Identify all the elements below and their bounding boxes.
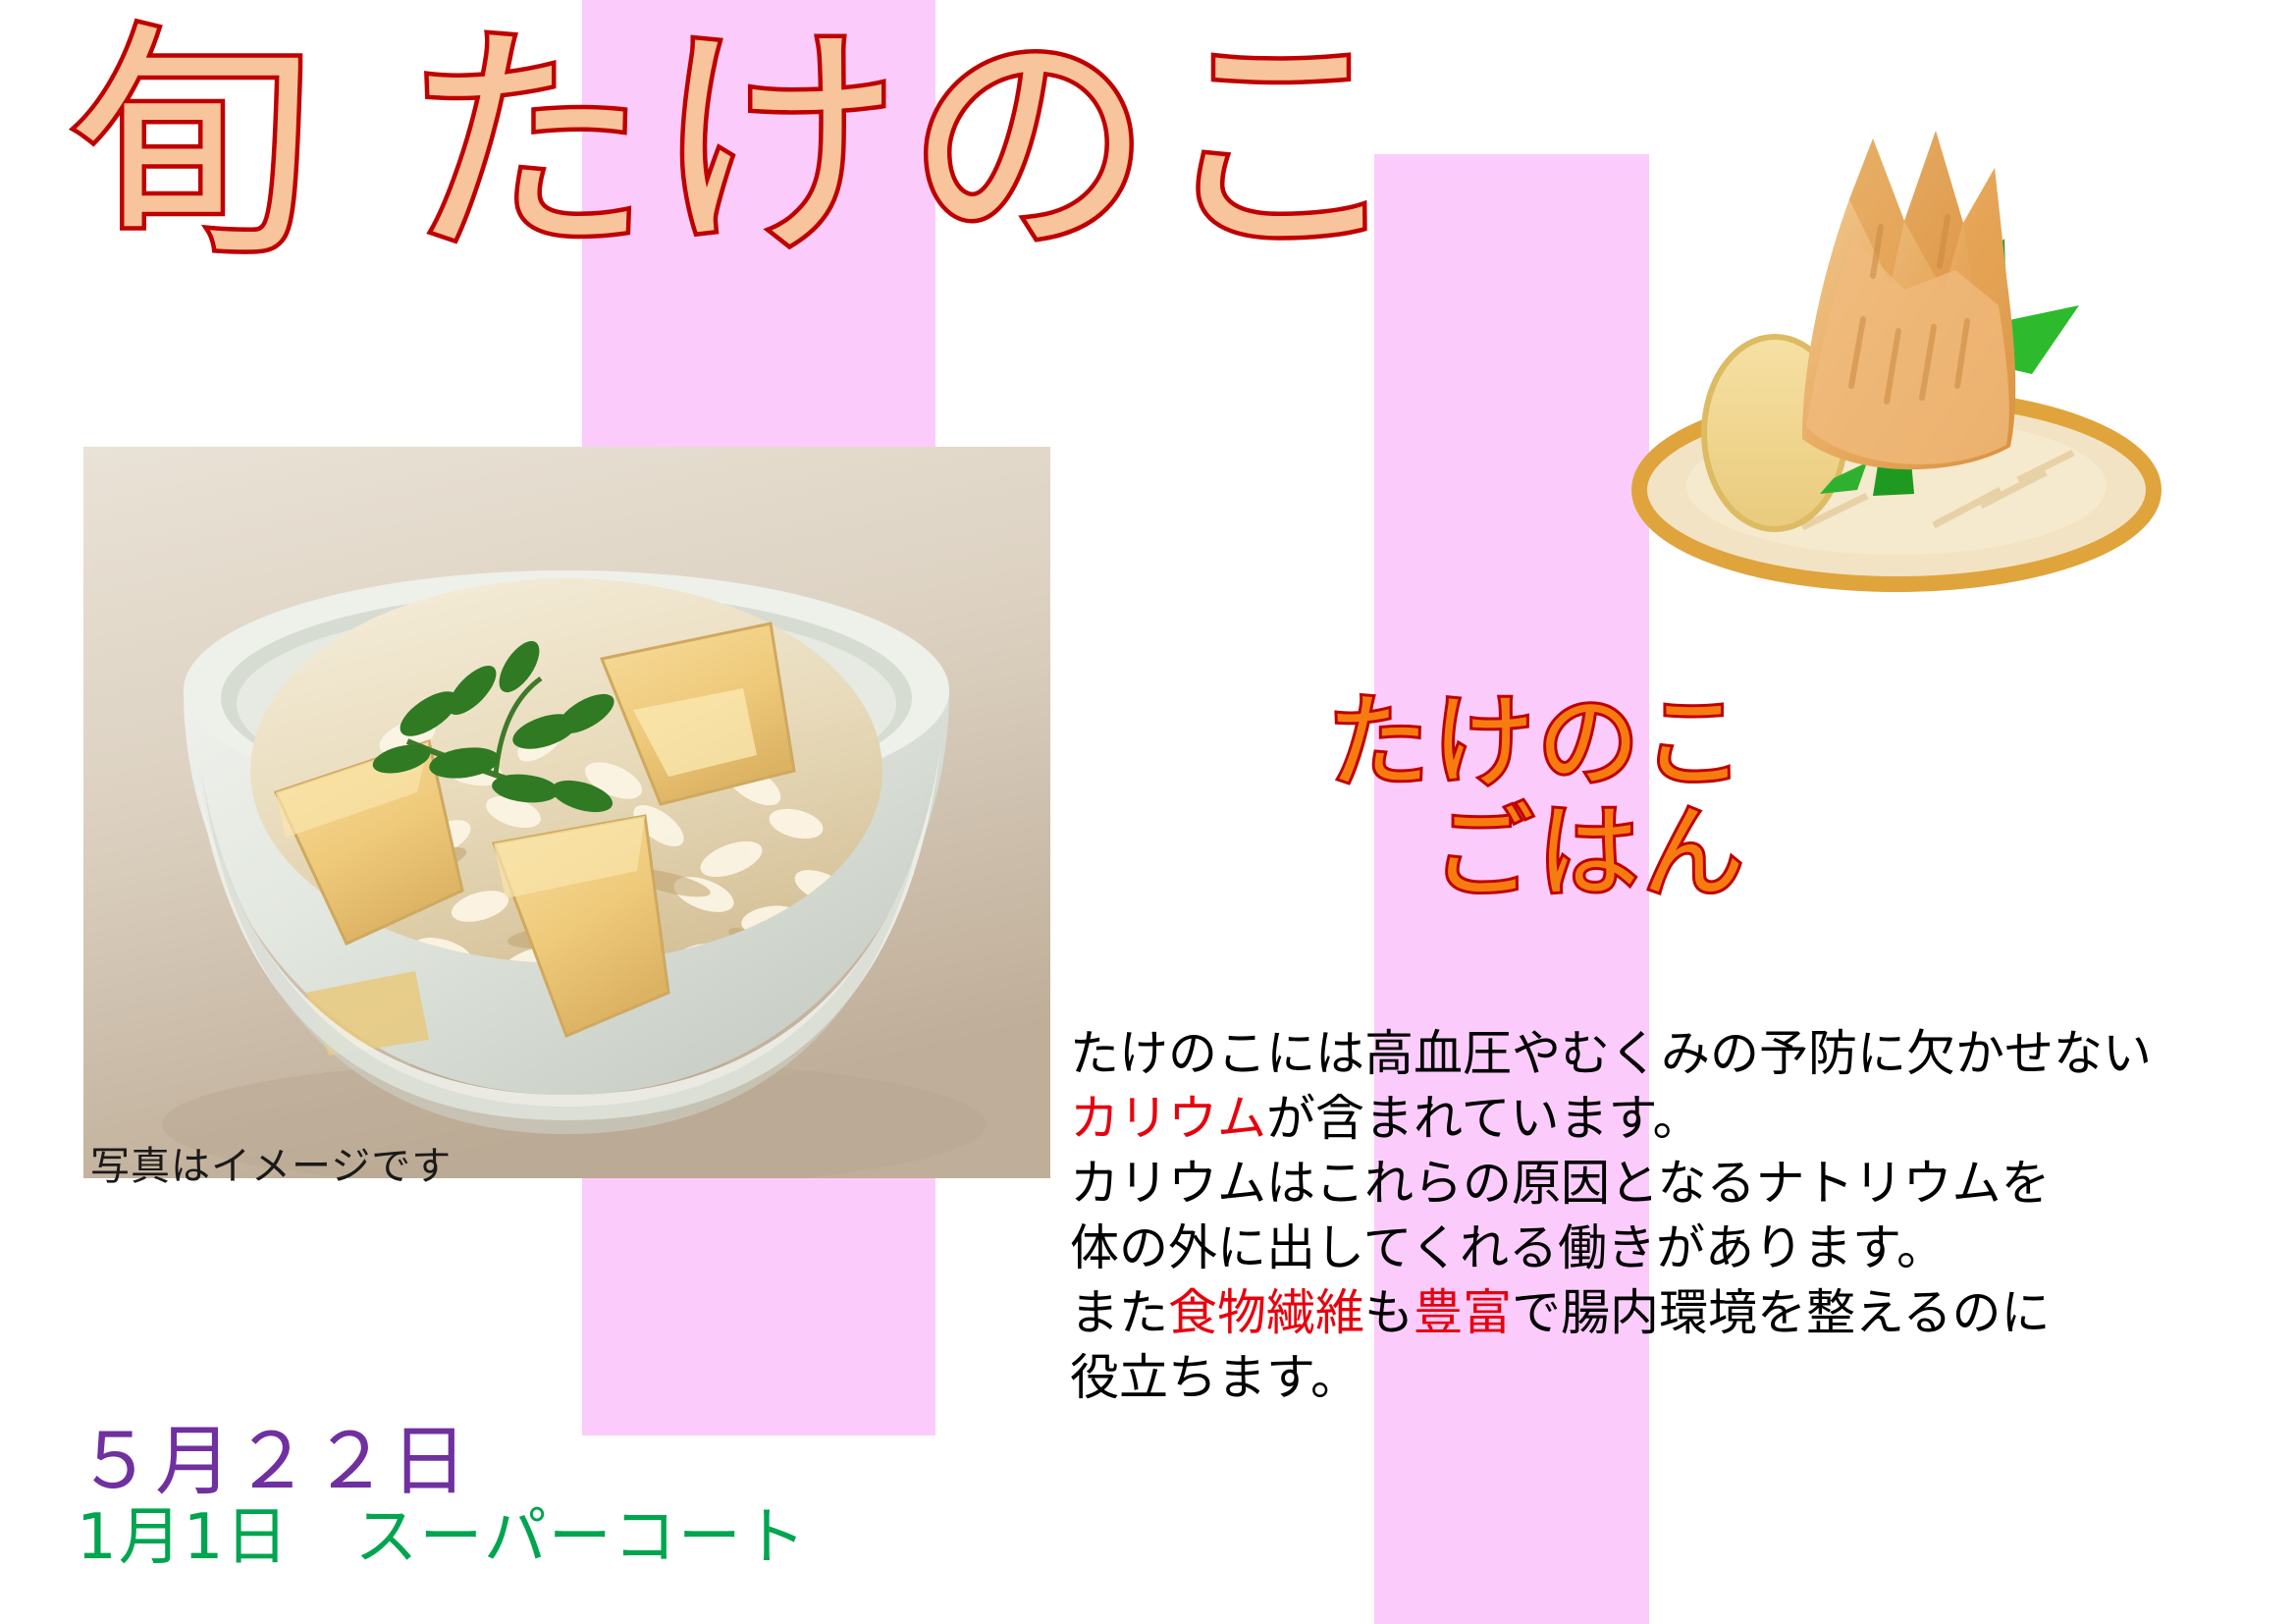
highlight-potassium: カリウム xyxy=(1070,1090,1266,1147)
dish-name-heading: たけのこ ごはん xyxy=(1001,687,1747,908)
poster-canvas: 旬 たけのこ xyxy=(0,0,2296,1624)
dish-name-line-2: ごはん xyxy=(1001,797,1747,907)
copy-line-5: また食物繊維も豊富で腸内環境を整えるのに xyxy=(1070,1280,2152,1345)
copy-text: また xyxy=(1070,1284,1168,1341)
bamboo-shoot-body xyxy=(1802,131,2015,469)
photo-caption: 写真はイメージです xyxy=(90,1134,452,1191)
copy-line-4: 体の外に出してくれる働きがあります。 xyxy=(1070,1216,2152,1280)
copy-text: で腸内環境を整えるのに xyxy=(1512,1284,2051,1341)
copy-line-6: 役立ちます。 xyxy=(1070,1345,2152,1410)
takenoko-gohan-photo xyxy=(83,447,1050,1178)
highlight-abundant: 豊富 xyxy=(1414,1284,1512,1341)
copy-text: たけのこには高血圧やむくみの予防に欠かせない xyxy=(1070,1025,2152,1082)
copy-text: カリウムはこれらの原因となるナトリウムを xyxy=(1070,1155,2051,1212)
copy-line-1: たけのこには高血圧やむくみの予防に欠かせない xyxy=(1070,1021,2152,1086)
nutrition-description: たけのこには高血圧やむくみの予防に欠かせない カリウムが含まれています。 カリウ… xyxy=(1070,1021,2152,1410)
copy-text: 体の外に出してくれる働きがあります。 xyxy=(1070,1219,1946,1276)
copy-line-2: カリウムが含まれています。 xyxy=(1070,1086,2152,1151)
event-venue: 1月1日 スーパーコート xyxy=(77,1503,808,1572)
copy-text: 役立ちます。 xyxy=(1070,1349,1360,1406)
event-date: ５月２２日 xyxy=(77,1422,808,1503)
bamboo-shoot-icon xyxy=(1610,74,2169,623)
schedule-block: ５月２２日 1月1日 スーパーコート xyxy=(77,1422,808,1572)
copy-text: が含まれています。 xyxy=(1266,1090,1702,1147)
copy-line-3: カリウムはこれらの原因となるナトリウムを xyxy=(1070,1151,2152,1216)
dish-name-line-1: たけのこ xyxy=(1001,687,1747,797)
copy-text: も xyxy=(1364,1284,1414,1341)
page-title: 旬 たけのこ xyxy=(69,18,1409,273)
highlight-dietary-fiber: 食物繊維 xyxy=(1168,1284,1364,1341)
